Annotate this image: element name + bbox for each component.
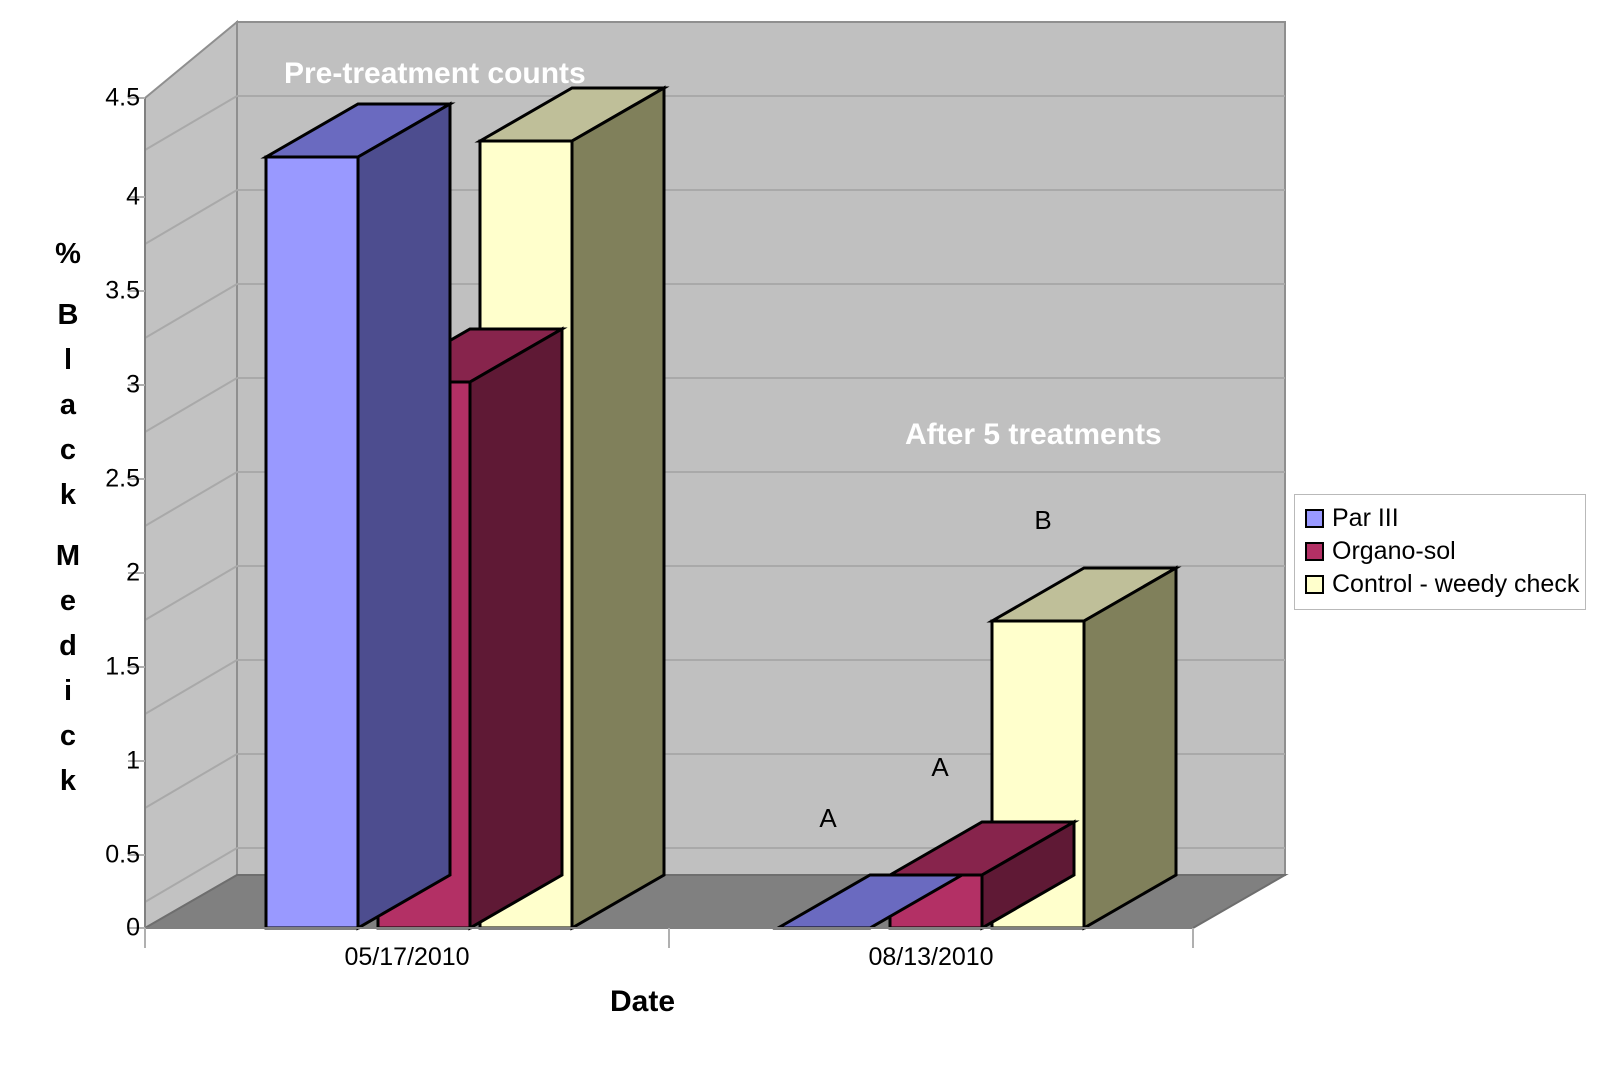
y-tick-4-5: 4.5: [80, 86, 140, 111]
legend-label-control-weedy-check: Control - weedy check: [1332, 572, 1579, 597]
y-axis-title-char: c: [46, 714, 90, 759]
y-axis-title-char: l: [46, 338, 90, 383]
x-tick-label-1: 05/17/2010: [344, 943, 469, 972]
legend-swatch-par-iii: [1305, 509, 1324, 528]
significance-letter-control: B: [1034, 505, 1051, 536]
legend-swatch-control-weedy-check: [1305, 575, 1324, 594]
y-axis-title-char: %: [46, 232, 90, 277]
significance-letter-pariii: A: [819, 803, 836, 834]
y-axis-title-gap: [46, 518, 90, 534]
bar-2010-05-17-pariii: [266, 104, 450, 928]
x-axis-ticks: [145, 928, 1193, 948]
annotation-pre-treatment: Pre-treatment counts: [284, 57, 586, 91]
legend-swatch-organo-sol: [1305, 542, 1324, 561]
legend-item-control-weedy-check[interactable]: Control - weedy check: [1305, 568, 1579, 601]
legend-item-par-iii[interactable]: Par III: [1305, 502, 1579, 535]
y-axis-title-char: k: [46, 759, 90, 804]
legend-label-organo-sol: Organo-sol: [1332, 539, 1456, 564]
y-axis-title-char: a: [46, 383, 90, 428]
significance-letter-organosol: A: [931, 752, 948, 783]
y-axis-title-char: e: [46, 579, 90, 624]
legend-item-organo-sol[interactable]: Organo-sol: [1305, 535, 1579, 568]
annotation-after-treatments: After 5 treatments: [905, 418, 1162, 452]
x-tick-label-2: 08/13/2010: [868, 943, 993, 972]
y-axis-title-char: B: [46, 293, 90, 338]
y-axis-title-char: c: [46, 428, 90, 473]
y-axis-title-char: k: [46, 473, 90, 518]
x-axis-title: Date: [0, 985, 1285, 1019]
y-tick-4: 4: [80, 185, 140, 210]
chart-page: 0 0.5 1 1.5 2 2.5 3 3.5 4 4.5 %BlackMedi…: [0, 0, 1600, 1067]
y-axis-title-char: d: [46, 624, 90, 669]
y-tick-0: 0: [80, 916, 140, 941]
chart-left-wall: [145, 22, 237, 928]
y-tick-0-5: 0.5: [80, 843, 140, 868]
y-axis-title: %BlackMedick: [46, 232, 90, 804]
y-axis-title-char: i: [46, 669, 90, 714]
legend-label-par-iii: Par III: [1332, 506, 1399, 531]
y-axis-title-gap: [46, 277, 90, 293]
chart-legend: Par III Organo-sol Control - weedy check: [1294, 494, 1586, 610]
y-axis-title-char: M: [46, 534, 90, 579]
